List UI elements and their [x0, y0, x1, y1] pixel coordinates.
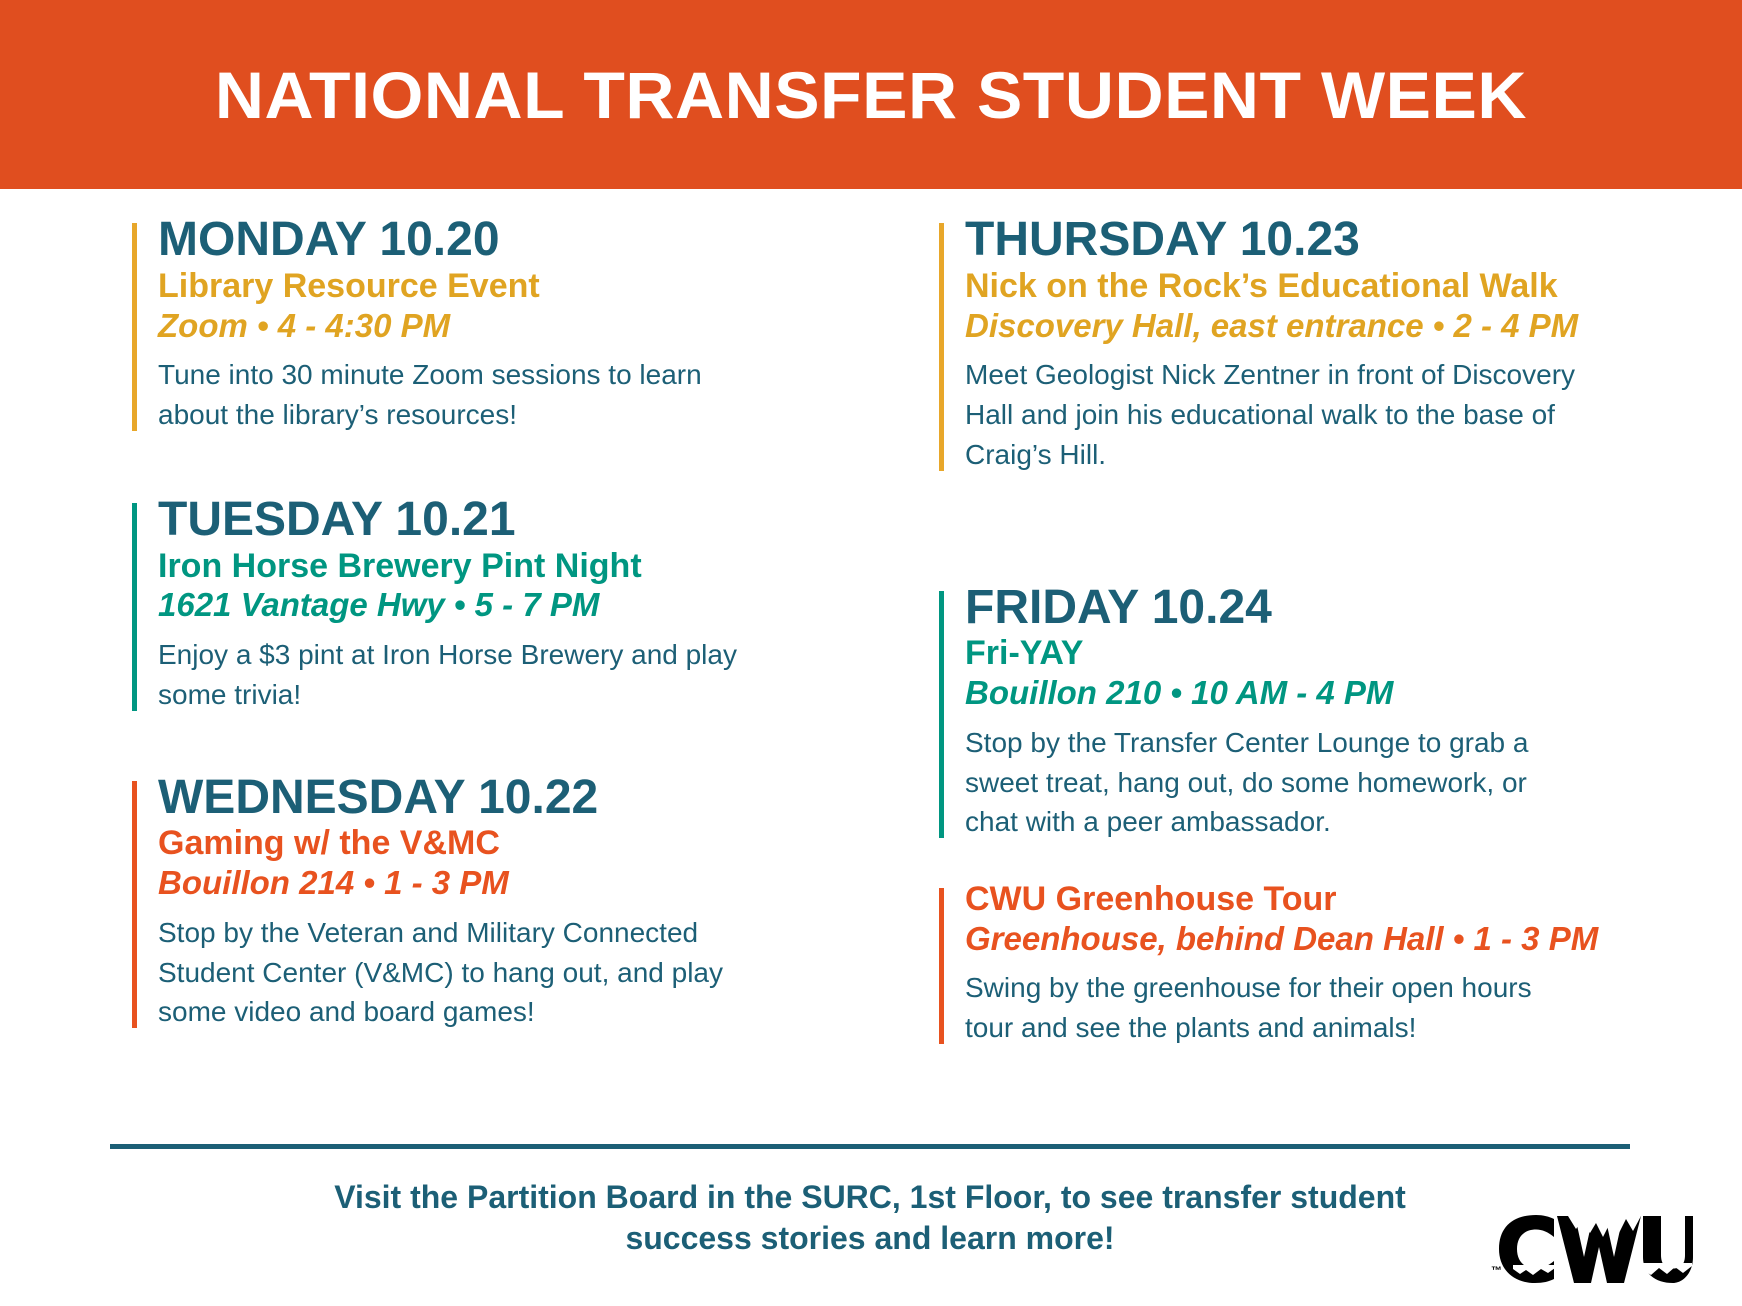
- event-description-greenhouse: Swing by the greenhouse for their open h…: [965, 968, 1585, 1048]
- day-title-friday: FRIDAY 10.24: [965, 583, 1718, 634]
- event-card-tuesday: TUESDAY 10.21 Iron Horse Brewery Pint Ni…: [132, 495, 847, 715]
- event-card-monday: MONDAY 10.20 Library Resource Event Zoom…: [132, 215, 847, 435]
- event-name-thursday: Nick on the Rock’s Educational Walk: [965, 267, 1718, 307]
- event-description-monday: Tune into 30 minute Zoom sessions to lea…: [158, 355, 778, 435]
- right-column: THURSDAY 10.23 Nick on the Rock’s Educat…: [871, 189, 1742, 1119]
- footer-divider: [110, 1144, 1630, 1149]
- day-title-monday: MONDAY 10.20: [158, 215, 847, 266]
- day-title-thursday: THURSDAY 10.23: [965, 215, 1718, 266]
- event-location-time-friday: Bouillon 210 • 10 AM - 4 PM: [965, 674, 1718, 713]
- header-banner: NATIONAL TRANSFER STUDENT WEEK: [0, 0, 1742, 189]
- event-location-time-wednesday: Bouillon 214 • 1 - 3 PM: [158, 864, 847, 903]
- event-card-thursday: THURSDAY 10.23 Nick on the Rock’s Educat…: [939, 215, 1718, 475]
- event-location-time-thursday: Discovery Hall, east entrance • 2 - 4 PM: [965, 307, 1718, 346]
- footer-callout-line-2: success stories and learn more!: [110, 1218, 1630, 1259]
- event-card-wednesday: WEDNESDAY 10.22 Gaming w/ the V&MC Bouil…: [132, 773, 847, 1033]
- event-name-wednesday: Gaming w/ the V&MC: [158, 824, 847, 864]
- day-title-tuesday: TUESDAY 10.21: [158, 495, 847, 546]
- event-card-greenhouse: CWU Greenhouse Tour Greenhouse, behind D…: [939, 880, 1718, 1048]
- event-card-friday: FRIDAY 10.24 Fri-YAY Bouillon 210 • 10 A…: [939, 583, 1718, 843]
- day-title-wednesday: WEDNESDAY 10.22: [158, 773, 847, 824]
- left-column: MONDAY 10.20 Library Resource Event Zoom…: [0, 189, 871, 1119]
- footer: Visit the Partition Board in the SURC, 1…: [0, 1119, 1742, 1306]
- page-title: NATIONAL TRANSFER STUDENT WEEK: [215, 62, 1527, 128]
- event-name-friday: Fri-YAY: [965, 634, 1718, 674]
- event-description-wednesday: Stop by the Veteran and Military Connect…: [158, 913, 778, 1032]
- event-location-time-tuesday: 1621 Vantage Hwy • 5 - 7 PM: [158, 586, 847, 625]
- event-name-greenhouse: CWU Greenhouse Tour: [965, 880, 1718, 920]
- footer-callout: Visit the Partition Board in the SURC, 1…: [110, 1177, 1630, 1259]
- event-name-tuesday: Iron Horse Brewery Pint Night: [158, 547, 847, 587]
- event-name-monday: Library Resource Event: [158, 267, 847, 307]
- event-description-friday: Stop by the Transfer Center Lounge to gr…: [965, 723, 1585, 842]
- event-description-thursday: Meet Geologist Nick Zentner in front of …: [965, 355, 1585, 474]
- events-content: MONDAY 10.20 Library Resource Event Zoom…: [0, 189, 1742, 1119]
- trademark-icon: ™: [1491, 1265, 1502, 1277]
- footer-callout-line-1: Visit the Partition Board in the SURC, 1…: [110, 1177, 1630, 1218]
- event-location-time-monday: Zoom • 4 - 4:30 PM: [158, 307, 847, 346]
- event-description-tuesday: Enjoy a $3 pint at Iron Horse Brewery an…: [158, 635, 778, 715]
- event-location-time-greenhouse: Greenhouse, behind Dean Hall • 1 - 3 PM: [965, 920, 1718, 959]
- cwu-logo: [1493, 1213, 1693, 1287]
